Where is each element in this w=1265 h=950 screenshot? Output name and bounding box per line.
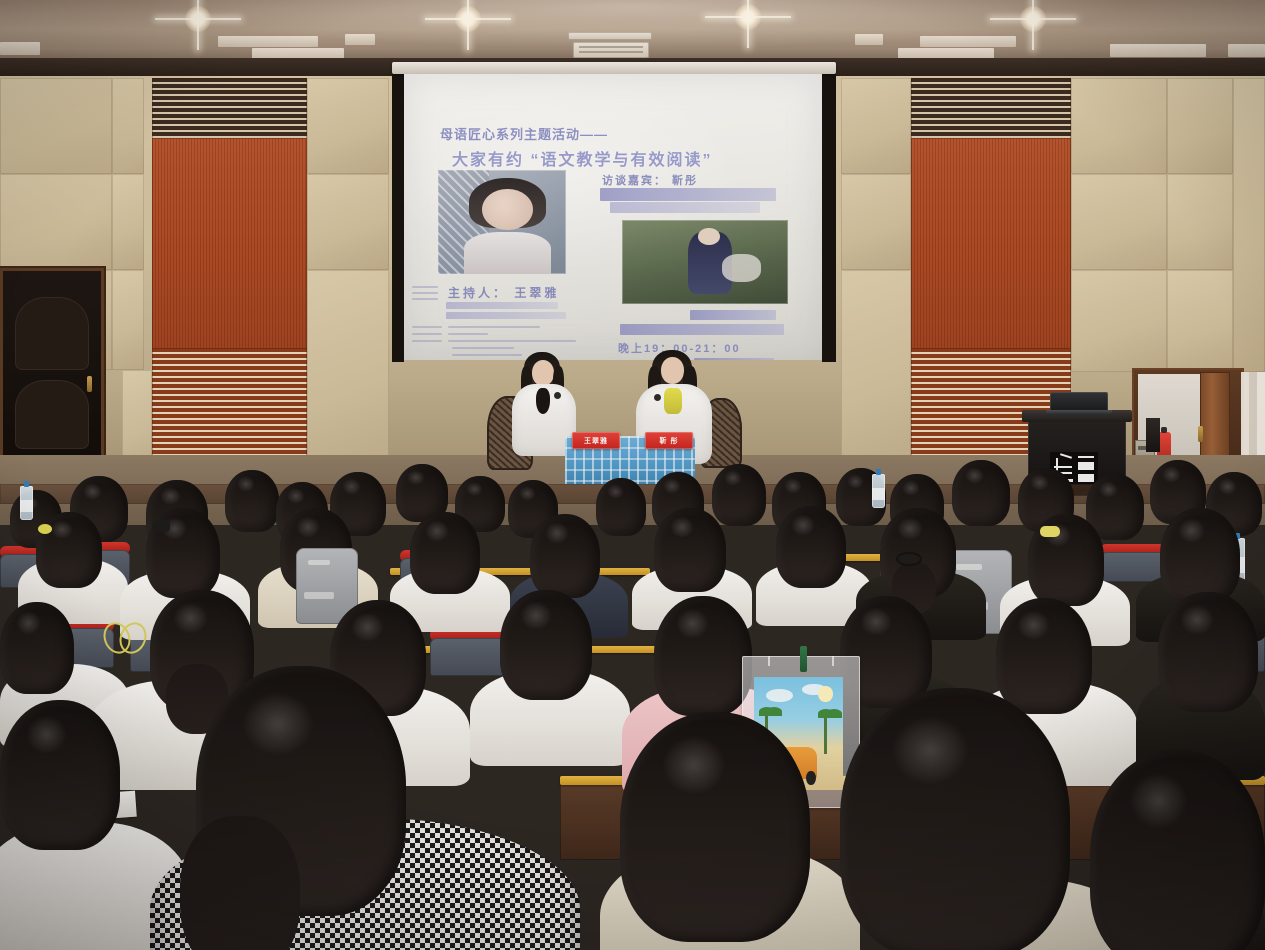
screen-border-left	[392, 72, 404, 362]
wall-tile	[307, 270, 389, 476]
wall-tile	[1071, 78, 1167, 174]
ceiling-downlight-icon	[1020, 6, 1046, 32]
ceiling-downlight-icon	[455, 6, 481, 32]
nameplate-host: 王翠雅	[572, 432, 620, 449]
audience-head	[410, 512, 480, 594]
slide-affiliation-band-2	[610, 202, 760, 213]
slide-date-band-2	[620, 324, 784, 335]
hair-scrunchie	[896, 552, 922, 566]
slide-host-band-2	[446, 312, 566, 319]
hair-clip	[1040, 526, 1060, 537]
recessed-light-fixture	[345, 34, 375, 45]
audience-head	[1160, 508, 1240, 604]
wall-tile	[1167, 174, 1233, 270]
foreground-head	[840, 688, 1070, 950]
nameplate-guest: 靳 彤	[645, 432, 693, 449]
wall-tile	[1233, 78, 1265, 372]
wall-tile	[1167, 78, 1233, 174]
hair-clip	[152, 520, 170, 532]
foreground-head	[620, 712, 810, 942]
slide-title-line1: 母语匠心系列主题活动——	[440, 124, 608, 143]
slide-title-line2: 大家有约 “语文教学与有效阅读”	[452, 146, 712, 170]
audience-head	[596, 478, 646, 536]
wall-slat-band	[911, 78, 1071, 140]
hair-bow	[104, 622, 146, 650]
wall-tile	[0, 78, 112, 174]
audience-head	[654, 508, 726, 592]
recessed-light-fixture	[855, 34, 883, 45]
wall-tile	[841, 78, 911, 174]
wall-slat-band	[152, 78, 307, 140]
slide-host-band-1	[446, 302, 558, 309]
recessed-light-fixture	[0, 42, 40, 55]
slide-guest-label: 访谈嘉宾： 靳彤	[602, 172, 698, 188]
slide-guest-portrait	[438, 170, 566, 274]
recessed-light-fixture	[1110, 44, 1206, 57]
audience-area	[0, 450, 1265, 950]
recessed-light-fixture	[218, 36, 318, 47]
dark-equipment-panel	[1146, 418, 1160, 452]
ac-vent	[573, 42, 649, 58]
slide-secondary-photo	[622, 220, 788, 304]
wall-tile	[1071, 174, 1167, 270]
dark-wood-door[interactable]	[0, 268, 104, 476]
slide-credit-line	[412, 326, 442, 328]
screen-housing	[392, 62, 836, 74]
laptop-base[interactable]	[1046, 410, 1112, 415]
wall-tile	[307, 174, 389, 270]
wall-tile	[112, 174, 144, 270]
wall-tile	[841, 270, 911, 476]
wall-tile	[1071, 270, 1167, 372]
water-bottle	[872, 474, 885, 508]
ac-vent	[568, 32, 652, 40]
lecture-hall-photo: 母语匠心系列主题活动—— 大家有约 “语文教学与有效阅读” 访谈嘉宾： 靳彤 主…	[0, 0, 1265, 950]
foreground-head	[1090, 750, 1265, 950]
slide-affiliation-band-1	[600, 188, 776, 201]
wall-tile	[0, 174, 112, 270]
audience-head	[0, 700, 120, 850]
audience-head	[225, 470, 279, 532]
recessed-light-fixture	[1228, 44, 1265, 57]
nameplate-guest-text: 靳 彤	[660, 436, 679, 446]
water-bottle	[20, 486, 33, 520]
projection-screen: 母语匠心系列主题活动—— 大家有约 “语文教学与有效阅读” 访谈嘉宾： 靳彤 主…	[404, 74, 822, 360]
slide-host-label: 主持人： 王翠雅	[448, 284, 559, 301]
slide-date-band	[690, 310, 776, 320]
audience-head	[776, 506, 846, 588]
audience-head	[500, 590, 592, 700]
wall-tile	[112, 270, 144, 370]
laptop-lid[interactable]	[1050, 392, 1108, 412]
hair-clip	[38, 524, 52, 534]
wall-tile	[1167, 270, 1233, 372]
audience-head	[1028, 514, 1104, 606]
audience-head	[952, 460, 1010, 526]
screen-border-right	[822, 72, 836, 362]
wall-tile	[841, 174, 911, 270]
ceiling-downlight-icon	[735, 4, 761, 30]
pen	[800, 646, 807, 672]
ceiling-downlight-icon	[185, 6, 211, 32]
nameplate-host-text: 王翠雅	[584, 436, 608, 446]
wall-tile	[307, 78, 389, 174]
audience-head	[530, 514, 600, 598]
foreground-head	[196, 666, 406, 916]
audience-head	[0, 602, 74, 694]
wall-wood-panel	[911, 138, 1071, 350]
wall-tile	[112, 78, 144, 174]
audience-head	[1158, 592, 1258, 712]
recessed-light-fixture	[920, 36, 1016, 47]
wall-wood-panel	[152, 138, 307, 350]
audience-head	[654, 596, 752, 716]
